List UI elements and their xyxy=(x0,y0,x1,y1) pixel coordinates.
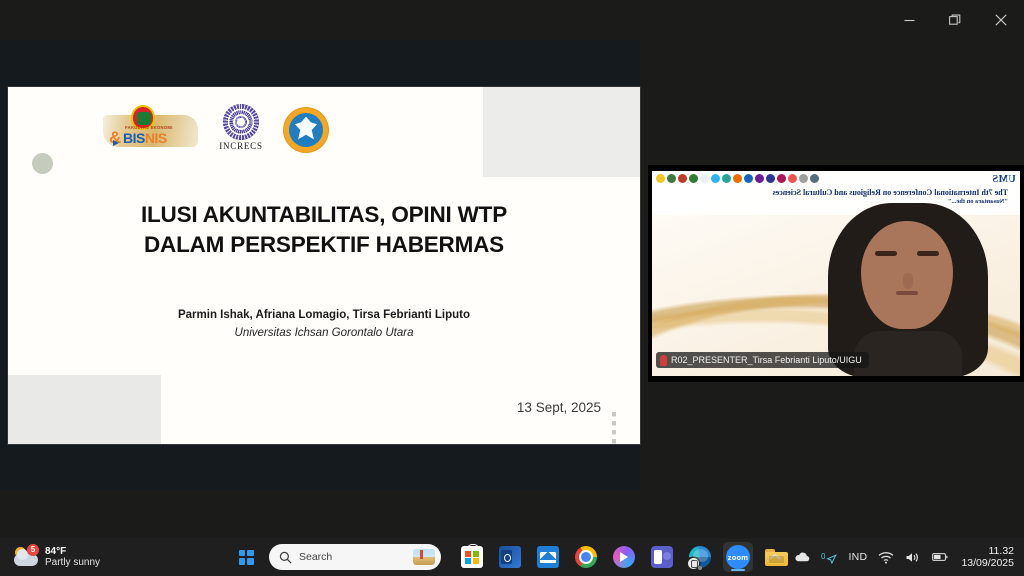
dikti-saintek-berdampak-logo xyxy=(284,108,328,152)
slide-date: 13 Sept, 2025 xyxy=(517,400,601,415)
sponsor-logo-icon xyxy=(711,174,720,183)
microphone-muted-icon xyxy=(660,355,667,366)
slide-logo-row: FAKULTAS EKONOMI & BISNIS INCRECS xyxy=(103,102,333,157)
start-button[interactable] xyxy=(233,544,259,570)
mail-icon xyxy=(537,546,559,568)
taskbar-app-icons: zoom xyxy=(457,542,791,572)
sponsor-logo-icon xyxy=(733,174,742,183)
running-indicator xyxy=(698,566,702,570)
taskbar-app-google-chrome[interactable] xyxy=(571,542,601,572)
slide-decor-dot xyxy=(32,153,53,174)
minimize-icon xyxy=(904,15,915,26)
chrome-icon xyxy=(575,546,597,568)
slide-title-line-1: ILUSI AKUNTABILITAS, OPINI WTP xyxy=(8,200,640,230)
slide-title-line-2: DALAM PERSPEKTIF HABERMAS xyxy=(8,230,640,260)
taskbar-app-microsoft-teams[interactable] xyxy=(647,542,677,572)
speaker-icon xyxy=(905,551,921,564)
minimize-button[interactable] xyxy=(886,0,932,40)
presenter-figure xyxy=(828,203,988,376)
battery-icon xyxy=(932,551,948,563)
increcs-ring-icon xyxy=(223,104,259,140)
input-language-indicator[interactable]: IND xyxy=(848,551,867,563)
window-titlebar xyxy=(0,0,1024,40)
presenter-nose xyxy=(903,273,913,289)
sponsor-logo-icon xyxy=(689,174,698,183)
presenter-torso xyxy=(854,331,962,376)
slide-decor-dotted-line xyxy=(612,412,616,444)
zoom-screen-share-window: FAKULTAS EKONOMI & BISNIS INCRECS ILUSI … xyxy=(0,0,1024,576)
folder-inner-shape xyxy=(769,556,784,563)
windows-logo-icon xyxy=(239,550,254,565)
presentation-slide: FAKULTAS EKONOMI & BISNIS INCRECS ILUSI … xyxy=(8,87,640,444)
taskbar-app-outlook[interactable] xyxy=(495,542,525,572)
outlook-icon xyxy=(499,546,521,568)
taskbar-app-zoom[interactable]: zoom xyxy=(723,542,753,572)
slide-affiliation: Universitas Ichsan Gorontalo Utara xyxy=(8,327,640,339)
close-icon xyxy=(995,14,1007,26)
taskbar-app-clipchamp[interactable] xyxy=(609,542,639,572)
slide-decor-top-right xyxy=(483,87,640,177)
clock-date: 13/09/2025 xyxy=(961,557,1014,569)
location-tray-button[interactable]: 0 xyxy=(821,549,837,565)
clock-time: 11.32 xyxy=(961,545,1014,557)
banner-brand-text: UMS xyxy=(992,174,1016,185)
location-arrow-icon: 0 xyxy=(821,550,837,564)
search-placeholder: Search xyxy=(299,551,413,563)
edge-icon xyxy=(689,546,711,568)
restore-button[interactable] xyxy=(932,0,978,40)
sponsor-logo-icon xyxy=(799,174,808,183)
presenter-face xyxy=(861,221,953,329)
sponsor-logo-icon xyxy=(667,174,676,183)
search-input[interactable]: Search xyxy=(269,544,441,570)
sponsor-logo-icon xyxy=(722,174,731,183)
windows-taskbar: 5 84°F Partly sunny Search xyxy=(0,538,1024,576)
shared-screen-stage: FAKULTAS EKONOMI & BISNIS INCRECS ILUSI … xyxy=(0,40,640,490)
sponsor-logo-icon xyxy=(788,174,797,183)
banner-sponsor-logos xyxy=(656,174,819,183)
logo-bis-part: BIS xyxy=(123,130,145,146)
sponsor-logo-icon xyxy=(700,174,709,183)
sponsor-logo-icon xyxy=(755,174,764,183)
slide-title: ILUSI AKUNTABILITAS, OPINI WTP DALAM PER… xyxy=(8,200,640,260)
clipchamp-icon xyxy=(613,546,635,568)
network-tray-button[interactable] xyxy=(878,549,894,565)
increcs-label: INCRECS xyxy=(212,141,270,151)
battery-tray-button[interactable] xyxy=(932,549,948,565)
microsoft-store-icon xyxy=(461,546,483,568)
participant-video-tile[interactable]: UMS The 7th International Conference on … xyxy=(648,165,1024,382)
taskbar-app-microsoft-store[interactable] xyxy=(457,542,487,572)
sponsor-logo-icon xyxy=(810,174,819,183)
teams-icon xyxy=(651,546,673,568)
window-controls xyxy=(886,0,1024,40)
wifi-icon xyxy=(878,551,894,564)
sponsor-logo-icon xyxy=(777,174,786,183)
video-frame: UMS The 7th International Conference on … xyxy=(652,171,1020,376)
taskbar-app-microsoft-edge[interactable] xyxy=(685,542,715,572)
participant-name-label: R02_PRESENTER_Tirsa Febrianti Liputo/UIG… xyxy=(656,352,869,368)
restore-icon xyxy=(949,14,961,26)
clock-and-date[interactable]: 11.32 13/09/2025 xyxy=(959,545,1018,570)
slide-authors: Parmin Ishak, Afriana Lomagio, Tirsa Feb… xyxy=(8,309,640,321)
sponsor-logo-icon xyxy=(678,174,687,183)
sponsor-logo-icon xyxy=(744,174,753,183)
slide-decor-bottom-left xyxy=(8,375,161,444)
logo-nis-part: NIS xyxy=(145,130,167,146)
logo-triangle-shape xyxy=(113,140,119,146)
logo-bisnis-text: BISNIS xyxy=(123,131,167,145)
volume-tray-button[interactable] xyxy=(905,549,921,565)
sponsor-logo-icon xyxy=(656,174,665,183)
increcs-logo: INCRECS xyxy=(212,104,270,156)
system-tray: 0 IND xyxy=(767,538,1018,576)
cloud-icon xyxy=(794,551,810,563)
taskbar-app-mail[interactable] xyxy=(533,542,563,572)
banner-title-text: The 7th International Conference on Reli… xyxy=(668,188,1008,197)
search-highlight-thumbnail[interactable] xyxy=(413,549,435,565)
fakultas-ekonomi-bisnis-logo: FAKULTAS EKONOMI & BISNIS xyxy=(103,107,198,153)
active-window-indicator xyxy=(731,569,745,572)
zoom-icon: zoom xyxy=(726,545,750,569)
close-button[interactable] xyxy=(978,0,1024,40)
search-icon xyxy=(279,551,292,564)
onedrive-tray-button[interactable] xyxy=(794,549,810,565)
participant-name-text: R02_PRESENTER_Tirsa Febrianti Liputo/UIG… xyxy=(671,355,862,365)
svg-text:0: 0 xyxy=(821,552,826,561)
sponsor-logo-icon xyxy=(766,174,775,183)
